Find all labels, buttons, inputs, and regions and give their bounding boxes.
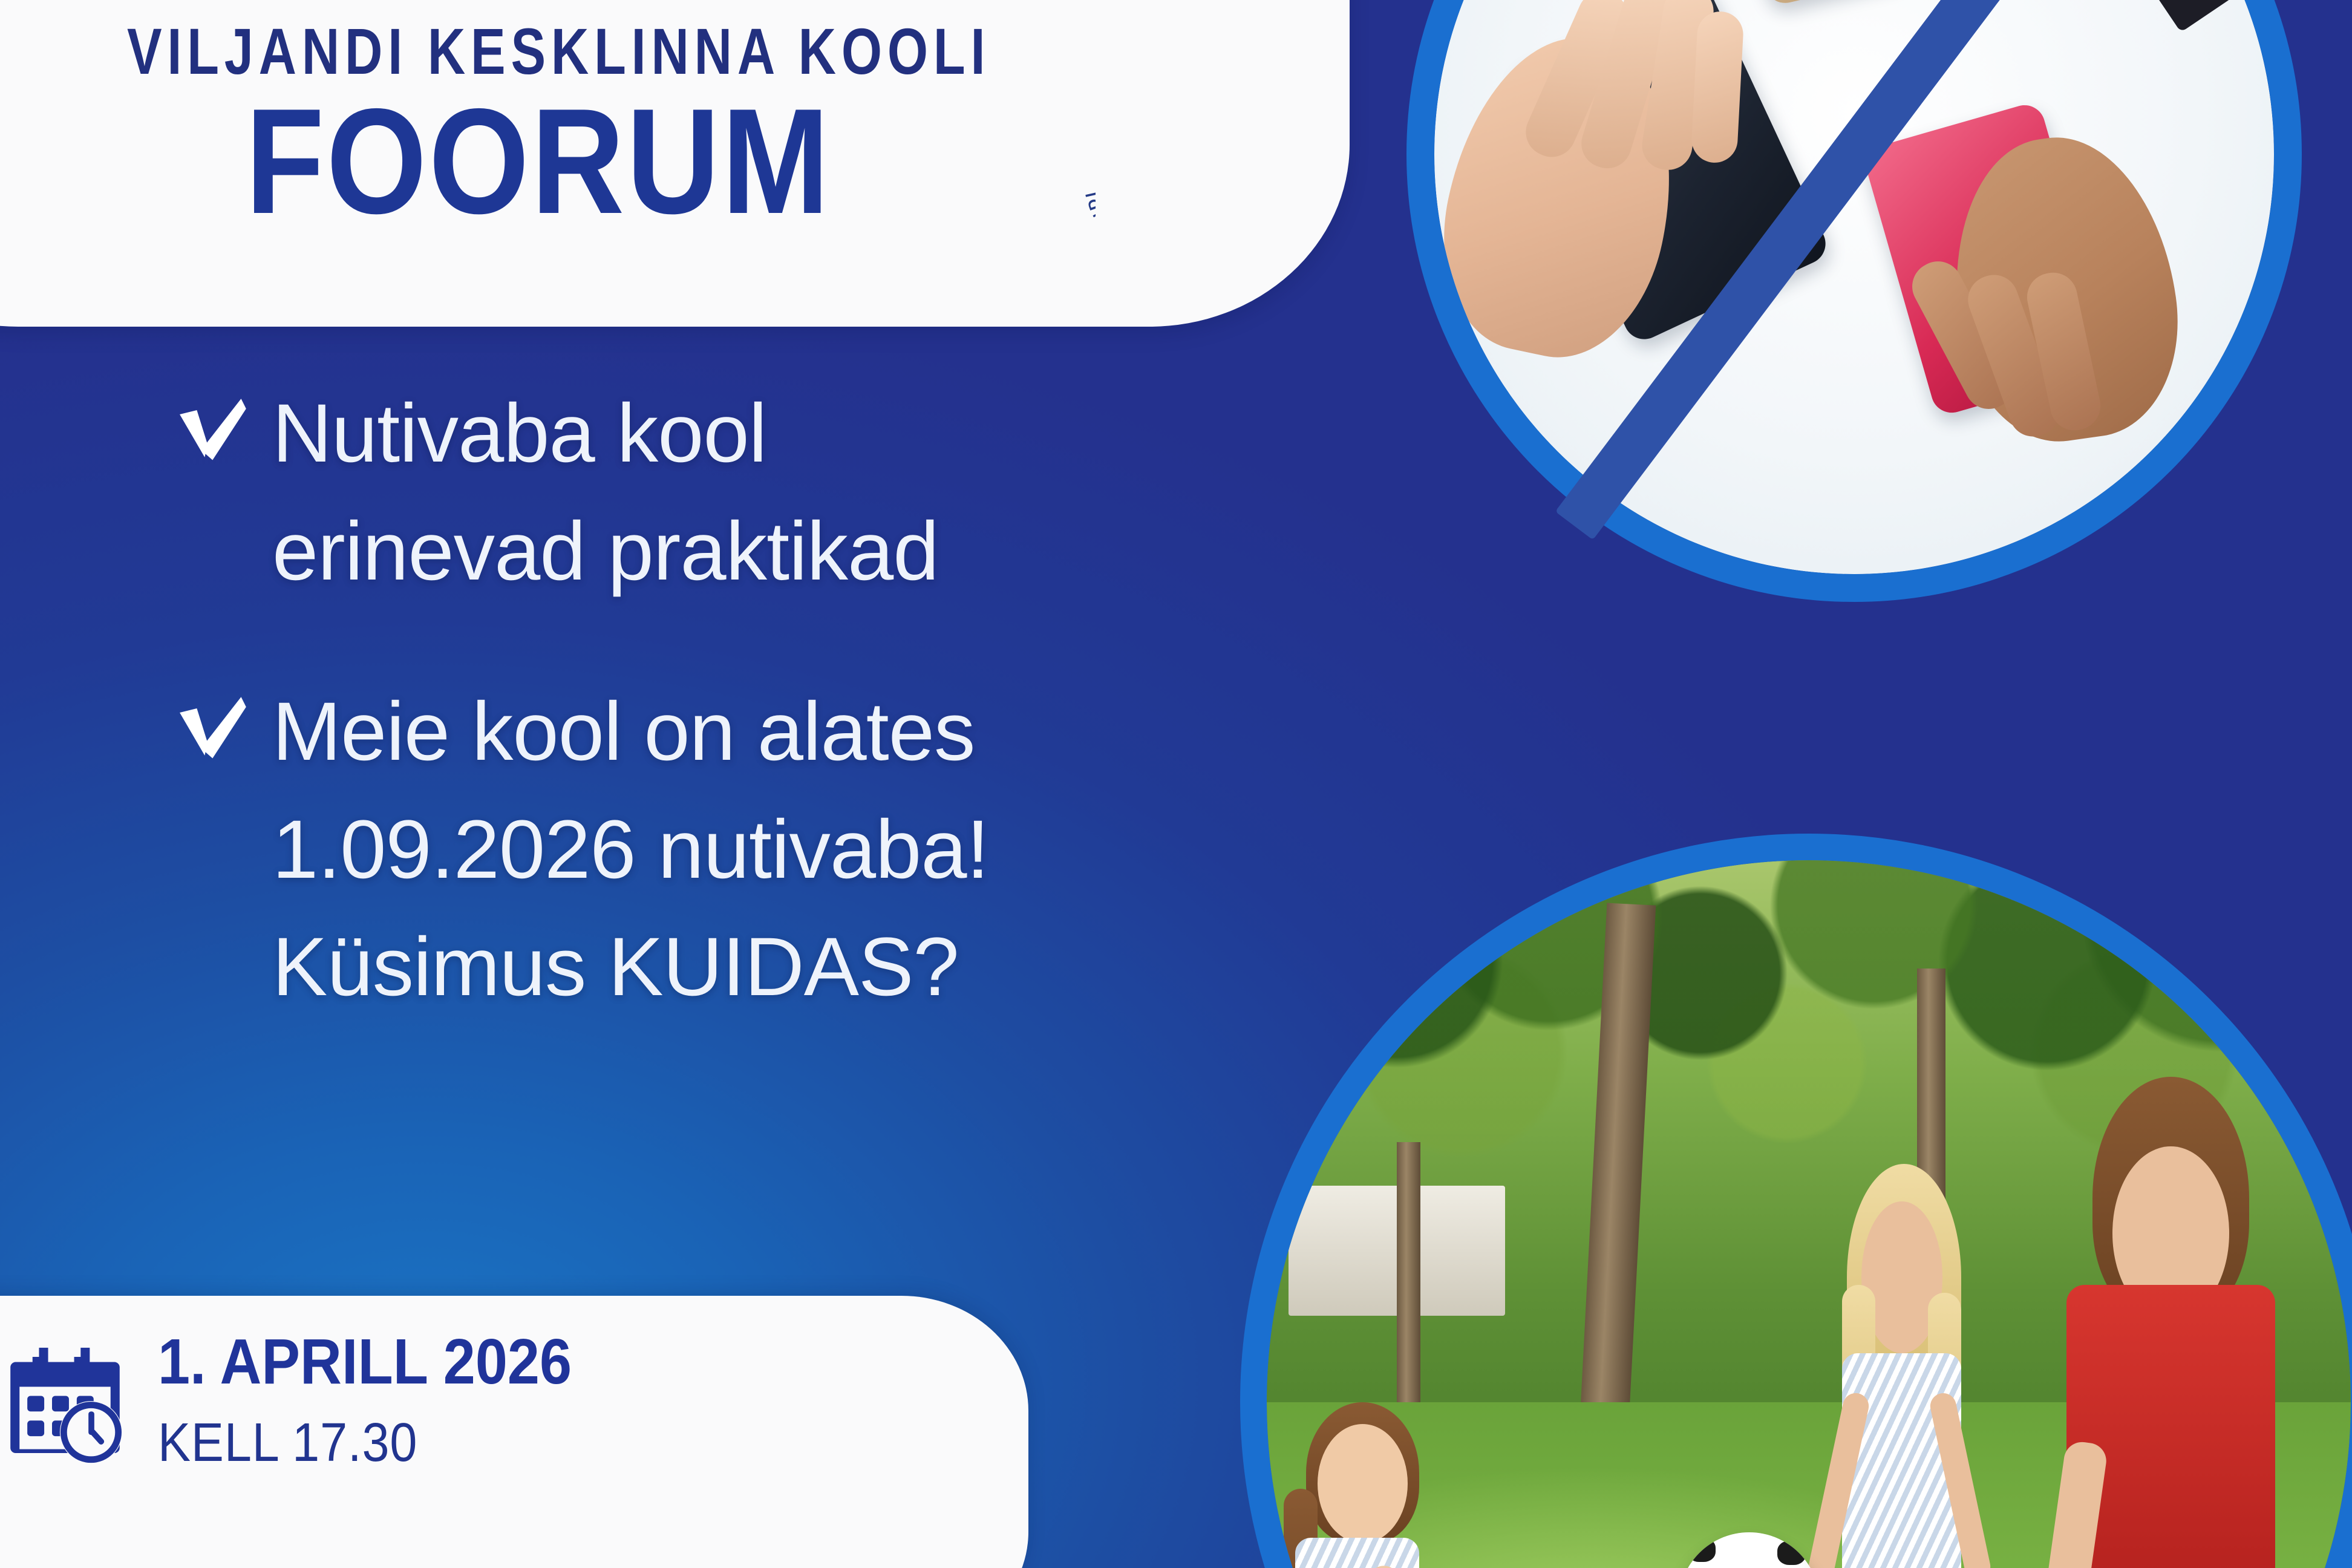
title-card: VILJANDI KESKLINNA KOOLI FOORUM — [0, 0, 1349, 327]
school-logo: KESKLINNA KOOL VILJANDI — [1070, 73, 1275, 278]
checkmark-icon — [175, 693, 247, 764]
date-badge-inner: 1. APRILL 2026 KELL 17.30 — [0, 1326, 618, 1485]
svg-text:KESKLINNA: KESKLINNA — [1106, 83, 1218, 124]
children-playing-outdoors-photo — [1240, 834, 2352, 1568]
no-smartphones-photo — [1406, 0, 2302, 602]
svg-text:VILJANDI: VILJANDI — [1082, 189, 1149, 263]
date-badge: 1. APRILL 2026 KELL 17.30 — [0, 1296, 1028, 1568]
checkmark-icon — [175, 394, 247, 466]
event-time: KELL 17.30 — [158, 1408, 572, 1478]
date-badge-lines: 1. APRILL 2026 KELL 17.30 — [158, 1326, 618, 1485]
page-title: FOORUM — [96, 91, 981, 232]
event-date: 1. APRILL 2026 — [158, 1326, 572, 1398]
bullet-line: Nutivaba kool — [272, 375, 1434, 493]
bullet-item: Nutivaba kool erinevad praktikad — [175, 375, 1434, 610]
bullet-line: erinevad praktikad — [272, 493, 1434, 611]
bullet-line: Meie kool on alates — [272, 673, 1434, 791]
poster-root: VILJANDI KESKLINNA KOOLI FOORUM — [0, 0, 2352, 1568]
bullet-text: Nutivaba kool erinevad praktikad — [272, 375, 1434, 610]
calendar-clock-icon — [0, 1340, 130, 1470]
svg-text:KOOL: KOOL — [1198, 215, 1249, 261]
title-card-inner: VILJANDI KESKLINNA KOOLI FOORUM — [0, 0, 1349, 327]
